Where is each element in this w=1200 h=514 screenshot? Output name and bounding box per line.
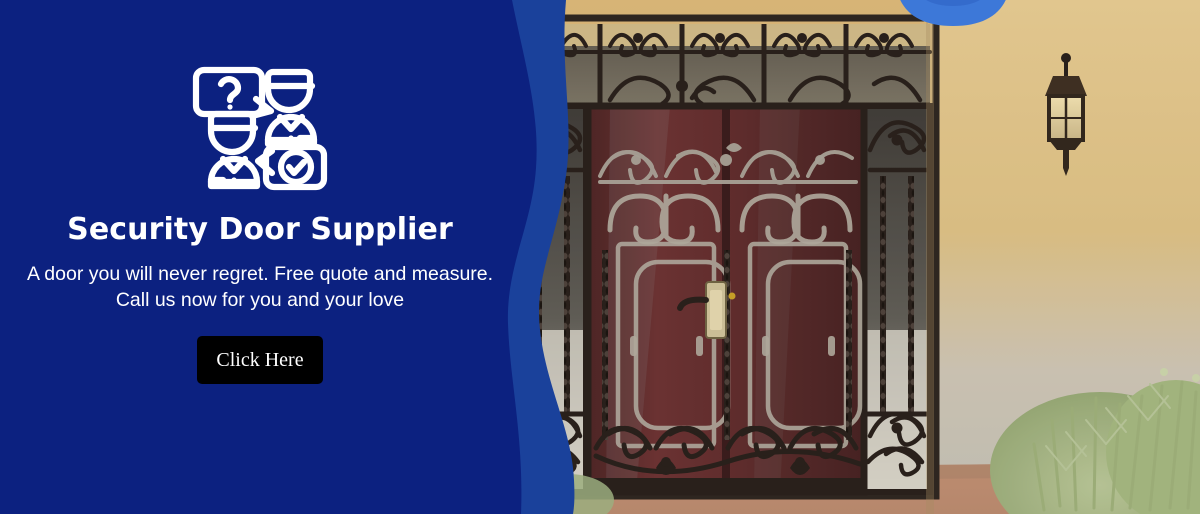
accent-blue-shape bbox=[893, 0, 1013, 32]
page-title: Security Door Supplier bbox=[67, 213, 453, 246]
click-here-button[interactable]: Click Here bbox=[197, 336, 323, 384]
subheadline-line-1: A door you will never regret. Free quote… bbox=[27, 263, 493, 285]
person-bottom-left bbox=[211, 114, 257, 186]
subheadline-line-2: Call us now for you and your love bbox=[116, 289, 404, 311]
hero-banner: Security Door Supplier A door you will n… bbox=[0, 0, 1200, 514]
consultation-qa-icon bbox=[192, 55, 328, 191]
person-top-right bbox=[268, 72, 314, 144]
question-speech-bubble bbox=[196, 70, 271, 115]
banner-content: Security Door Supplier A door you will n… bbox=[0, 0, 520, 514]
banner-subheadline: A door you will never regret. Free quote… bbox=[27, 261, 493, 314]
security-door-photo bbox=[460, 0, 1200, 514]
check-speech-bubble bbox=[258, 147, 324, 187]
